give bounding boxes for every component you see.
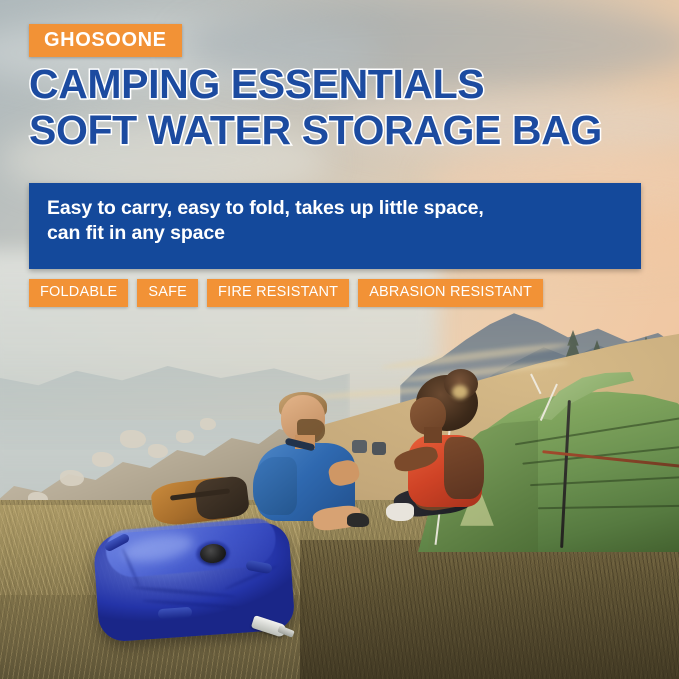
woman-shoe (386, 503, 414, 521)
rock (200, 418, 216, 430)
camper-woman (388, 375, 498, 530)
feature-tag-foldable: FOLDABLE (29, 279, 128, 307)
man-shoe (347, 513, 369, 527)
woman-back (444, 437, 484, 499)
feature-tag-fire-resistant: FIRE RESISTANT (207, 279, 349, 307)
product-poster: GHOSOONE CAMPING ESSENTIALS SOFT WATER S… (0, 0, 679, 679)
water-storage-bag (96, 520, 292, 642)
headline-line-2: SOFT WATER STORAGE BAG (29, 110, 669, 152)
rock (148, 444, 168, 458)
description-line-1: Easy to carry, easy to fold, takes up li… (47, 196, 623, 221)
headline: CAMPING ESSENTIALS SOFT WATER STORAGE BA… (29, 64, 669, 152)
feature-tag-abrasion-resistant: ABRASION RESISTANT (358, 279, 543, 307)
foreground-grass-dark (300, 540, 679, 679)
backpack-dark-section (194, 475, 250, 521)
camp-cup (372, 442, 386, 455)
headline-line-1: CAMPING ESSENTIALS (29, 64, 669, 106)
rock (60, 470, 84, 486)
feature-tag-list: FOLDABLE SAFE FIRE RESISTANT ABRASION RE… (29, 279, 543, 307)
camp-cup (352, 440, 367, 453)
description-bar: Easy to carry, easy to fold, takes up li… (29, 183, 641, 269)
description-line-2: can fit in any space (47, 221, 623, 246)
rock (176, 430, 194, 443)
woman-hair-highlight (452, 385, 468, 399)
woman-neck (424, 427, 442, 443)
brand-badge: GHOSOONE (29, 24, 182, 57)
camper-man (255, 395, 360, 530)
man-shoulder (253, 457, 297, 515)
rock (92, 452, 114, 467)
feature-tag-safe: SAFE (137, 279, 198, 307)
rock (120, 430, 146, 448)
